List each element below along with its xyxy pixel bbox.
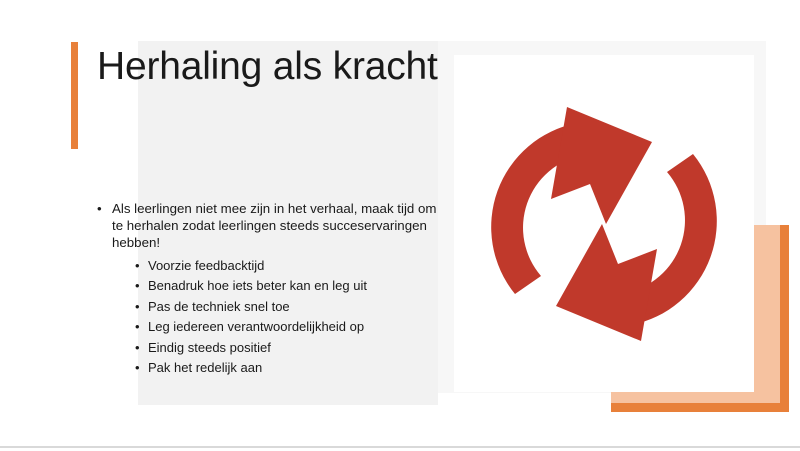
bullet-marker-icon: •	[135, 256, 140, 276]
bullet-text: Pak het redelijk aan	[148, 360, 262, 375]
list-item: • Benadruk hoe iets beter kan en leg uit	[133, 276, 442, 296]
list-item: • Pas de techniek snel toe	[133, 297, 442, 317]
list-item: • Pak het redelijk aan	[133, 358, 442, 378]
page-title: Herhaling als kracht	[97, 41, 447, 93]
picture-placeholder[interactable]	[454, 55, 754, 392]
body-text-block: • Als leerlingen niet mee zijn in het ve…	[92, 200, 442, 379]
bullet-text: Pas de techniek snel toe	[148, 299, 290, 314]
bullet-marker-icon: •	[97, 200, 102, 217]
bullet-list-level-2: • Voorzie feedbacktijd • Benadruk hoe ie…	[133, 256, 442, 378]
circular-cycle-arrows-icon	[459, 79, 749, 369]
bullet-marker-icon: •	[135, 338, 140, 358]
title-accent-bar	[71, 42, 78, 149]
bullet-text: Eindig steeds positief	[148, 340, 271, 355]
bullet-marker-icon: •	[135, 276, 140, 296]
bullet-marker-icon: •	[135, 297, 140, 317]
bullet-marker-icon: •	[135, 358, 140, 378]
bullet-text: Benadruk hoe iets beter kan en leg uit	[148, 278, 367, 293]
bullet-text: Voorzie feedbacktijd	[148, 258, 264, 273]
list-item: • Als leerlingen niet mee zijn in het ve…	[92, 200, 442, 378]
bullet-list-level-1: • Als leerlingen niet mee zijn in het ve…	[92, 200, 442, 378]
bullet-text: Als leerlingen niet mee zijn in het verh…	[112, 201, 436, 250]
list-item: • Eindig steeds positief	[133, 338, 442, 358]
slide-canvas: Herhaling als kracht • Als leerlingen ni…	[0, 0, 800, 451]
slide-bottom-rule	[0, 446, 800, 448]
bullet-text: Leg iedereen verantwoordelijkheid op	[148, 319, 364, 334]
list-item: • Leg iedereen verantwoordelijkheid op	[133, 317, 442, 337]
list-item: • Voorzie feedbacktijd	[133, 256, 442, 276]
bullet-marker-icon: •	[135, 317, 140, 337]
